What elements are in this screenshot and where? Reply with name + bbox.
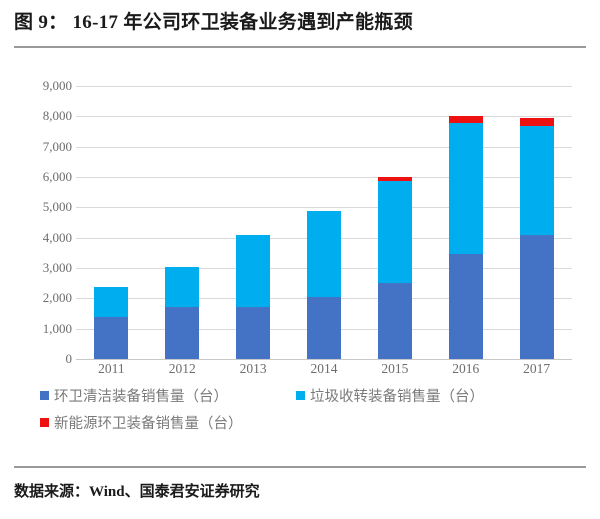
legend-swatch-icon-new-energy — [40, 418, 49, 427]
bar-group-2016[interactable] — [449, 86, 483, 359]
legend-row-2: 新能源环卫装备销售量（台） — [40, 409, 586, 436]
bar-segment-2011-series-2[interactable] — [94, 287, 128, 317]
bar-segment-2015-series-1[interactable] — [378, 283, 412, 359]
y-tick-label-4000: 4,000 — [14, 230, 72, 246]
title-divider — [14, 46, 586, 48]
chart-legend: 环卫清洁装备销售量（台） 垃圾收转装备销售量（台） 新能源环卫装备销售量（台） — [40, 382, 586, 436]
y-tick-label-0: 0 — [14, 351, 72, 367]
legend-label-waste-transfer: 垃圾收转装备销售量（台） — [310, 385, 484, 406]
chart-plot-area: 01,0002,0003,0004,0005,0006,0007,0008,00… — [14, 58, 586, 358]
figure-container: 图 9： 16-17 年公司环卫装备业务遇到产能瓶颈 01,0002,0003,… — [0, 0, 600, 519]
y-tick-label-1000: 1,000 — [14, 321, 72, 337]
bar-segment-2012-series-1[interactable] — [165, 307, 199, 359]
bar-segment-2014-series-2[interactable] — [307, 211, 341, 297]
legend-label-new-energy: 新能源环卫装备销售量（台） — [54, 412, 243, 433]
y-tick-label-7000: 7,000 — [14, 139, 72, 155]
bar-segment-2017-series-2[interactable] — [520, 126, 554, 235]
bar-group-2014[interactable] — [307, 86, 341, 359]
y-tick-label-8000: 8,000 — [14, 108, 72, 124]
x-tick-label-2015: 2015 — [365, 361, 425, 377]
x-tick-label-2013: 2013 — [223, 361, 283, 377]
x-tick-label-2011: 2011 — [81, 361, 141, 377]
y-tick-label-3000: 3,000 — [14, 260, 72, 276]
bar-segment-2015-series-3[interactable] — [378, 177, 412, 181]
y-axis-tick-labels: 01,0002,0003,0004,0005,0006,0007,0008,00… — [14, 86, 72, 359]
y-tick-label-2000: 2,000 — [14, 290, 72, 306]
legend-label-sanitation-cleaning: 环卫清洁装备销售量（台） — [54, 385, 228, 406]
legend-swatch-icon-waste-transfer — [296, 391, 305, 400]
legend-item-new-energy[interactable]: 新能源环卫装备销售量（台） — [40, 412, 243, 433]
bar-segment-2014-series-1[interactable] — [307, 297, 341, 359]
bar-segment-2017-series-3[interactable] — [520, 118, 554, 126]
legend-item-waste-transfer[interactable]: 垃圾收转装备销售量（台） — [296, 385, 484, 406]
source-divider — [14, 466, 586, 468]
figure-title-block: 图 9： 16-17 年公司环卫装备业务遇到产能瓶颈 — [14, 8, 586, 52]
bar-segment-2011-series-1[interactable] — [94, 317, 128, 359]
legend-swatch-icon-sanitation-cleaning — [40, 391, 49, 400]
y-tick-label-6000: 6,000 — [14, 169, 72, 185]
x-tick-label-2012: 2012 — [152, 361, 212, 377]
gridline-0 — [76, 359, 572, 360]
x-tick-label-2014: 2014 — [294, 361, 354, 377]
source-note: 数据来源：Wind、国泰君安证券研究 — [14, 480, 260, 501]
bar-segment-2013-series-2[interactable] — [236, 235, 270, 307]
bar-segment-2012-series-2[interactable] — [165, 267, 199, 308]
bar-segment-2015-series-2[interactable] — [378, 181, 412, 283]
chart-bars-layer — [76, 86, 572, 359]
legend-item-sanitation-cleaning[interactable]: 环卫清洁装备销售量（台） — [40, 385, 228, 406]
bar-group-2015[interactable] — [378, 86, 412, 359]
bar-group-2011[interactable] — [94, 86, 128, 359]
bar-group-2017[interactable] — [520, 86, 554, 359]
y-tick-label-5000: 5,000 — [14, 199, 72, 215]
figure-title: 图 9： 16-17 年公司环卫装备业务遇到产能瓶颈 — [14, 8, 586, 38]
bar-group-2013[interactable] — [236, 86, 270, 359]
bar-segment-2016-series-3[interactable] — [449, 116, 483, 123]
bar-segment-2013-series-1[interactable] — [236, 307, 270, 359]
bar-segment-2017-series-1[interactable] — [520, 235, 554, 359]
bar-segment-2016-series-1[interactable] — [449, 254, 483, 359]
bar-group-2012[interactable] — [165, 86, 199, 359]
legend-row-1: 环卫清洁装备销售量（台） 垃圾收转装备销售量（台） — [40, 382, 586, 409]
x-tick-label-2016: 2016 — [436, 361, 496, 377]
bar-segment-2016-series-2[interactable] — [449, 123, 483, 254]
x-tick-label-2017: 2017 — [507, 361, 567, 377]
y-tick-label-9000: 9,000 — [14, 78, 72, 94]
